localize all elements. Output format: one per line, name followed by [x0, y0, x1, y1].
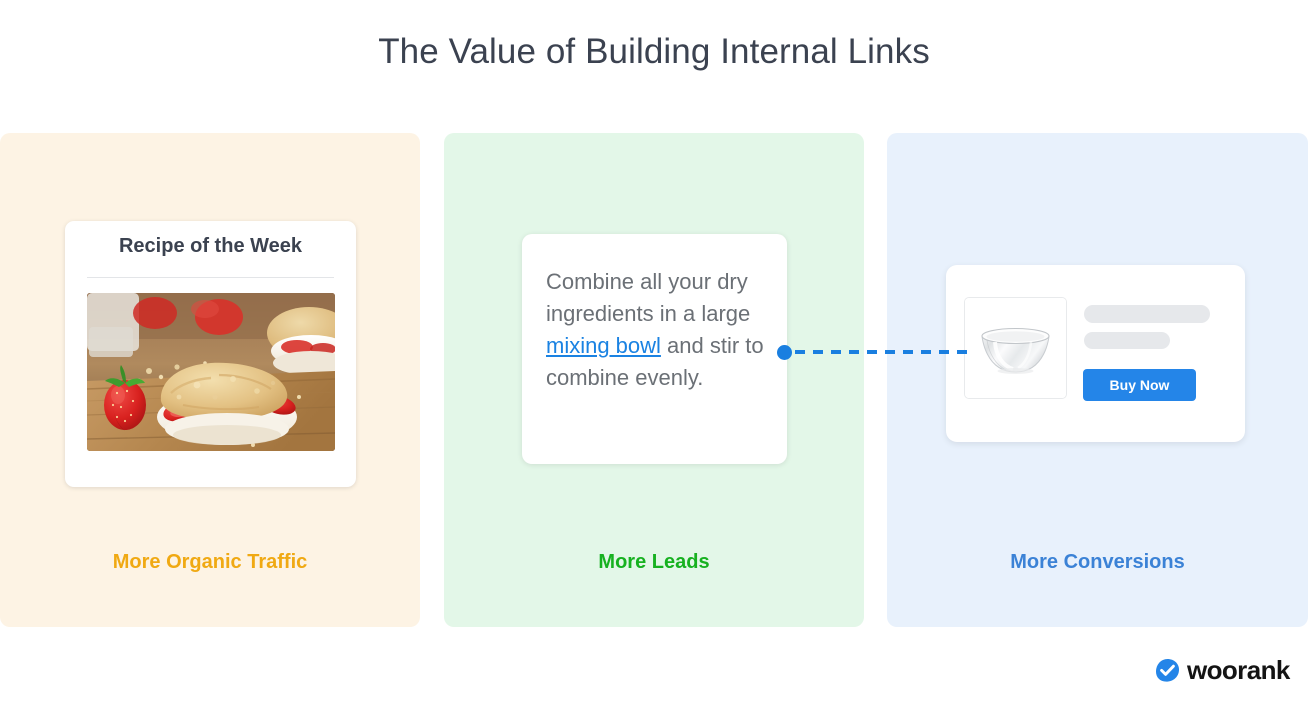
page-title: The Value of Building Internal Links	[0, 32, 1308, 72]
step-text-before: Combine all your dry ingredients in a la…	[546, 269, 750, 326]
strawberry-shortcake-photo	[87, 293, 335, 451]
recipe-card: Recipe of the Week	[65, 221, 356, 487]
panel-caption-organic-traffic: More Organic Traffic	[0, 551, 420, 574]
glass-mixing-bowl-image	[964, 297, 1067, 399]
panel-organic-traffic: Recipe of the Week	[0, 133, 420, 627]
connector-dashed-line	[795, 350, 967, 354]
connector-dot-icon	[777, 345, 792, 360]
panel-caption-conversions: More Conversions	[887, 551, 1308, 574]
mixing-bowl-internal-link[interactable]: mixing bowl	[546, 333, 661, 358]
recipe-card-heading: Recipe of the Week	[65, 235, 356, 258]
panel-leads: Combine all your dry ingredients in a la…	[444, 133, 864, 627]
dashed-link-connector	[777, 343, 967, 361]
product-card: Buy Now	[946, 265, 1245, 442]
panel-caption-leads: More Leads	[444, 551, 864, 574]
woorank-logo: woorank	[1155, 655, 1290, 685]
panels-row: Recipe of the Week	[0, 133, 1308, 627]
woorank-wordmark: woorank	[1187, 657, 1290, 683]
panel-conversions: Buy Now More Conversions	[887, 133, 1308, 627]
check-badge-icon	[1155, 658, 1180, 683]
recipe-step-text: Combine all your dry ingredients in a la…	[546, 266, 768, 394]
recipe-step-card: Combine all your dry ingredients in a la…	[522, 234, 787, 464]
buy-now-button[interactable]: Buy Now	[1083, 369, 1196, 401]
recipe-card-divider	[87, 277, 334, 278]
product-title-placeholder	[1084, 305, 1210, 323]
product-price-placeholder	[1084, 332, 1170, 349]
